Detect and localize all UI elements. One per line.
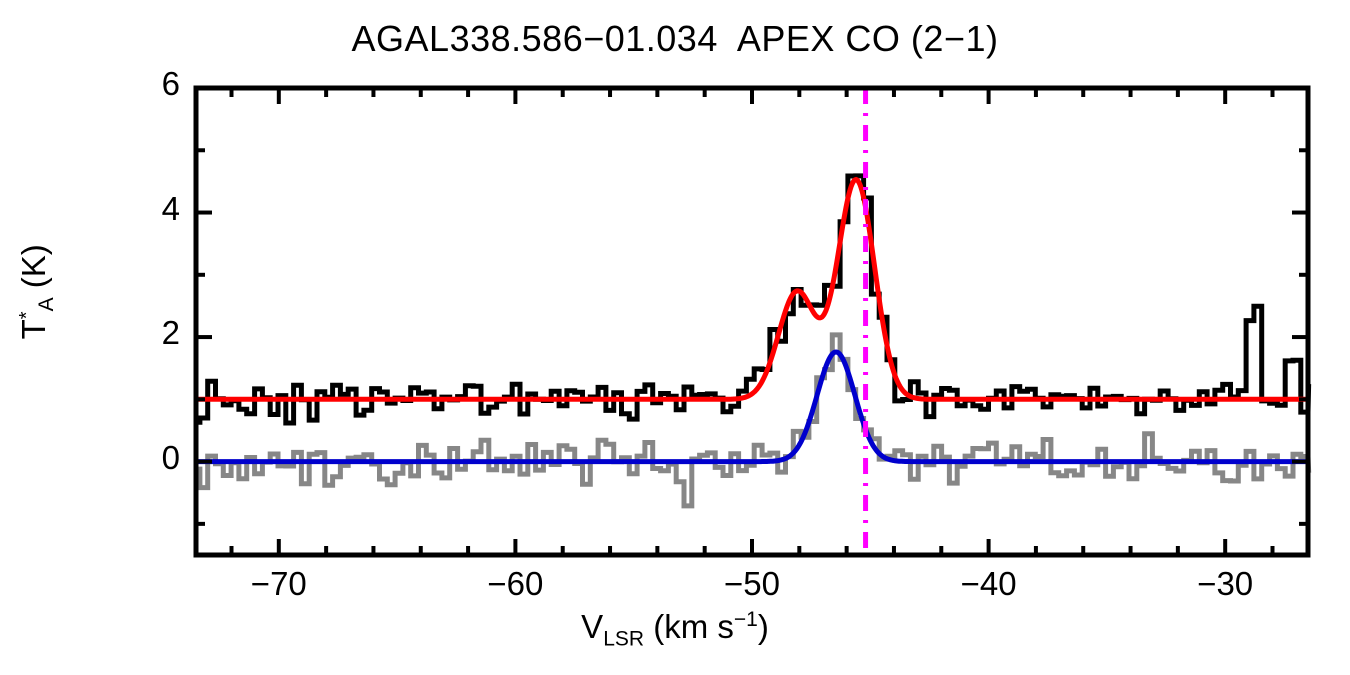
x-axis-tick-label: −40 bbox=[929, 565, 1049, 603]
x-axis-label: VLSR (km s−1) bbox=[0, 608, 1350, 652]
y-axis-tick-label: 0 bbox=[120, 439, 180, 477]
spectrum-plot bbox=[0, 0, 1350, 675]
y-axis-tick-label: 2 bbox=[120, 314, 180, 352]
page-title: AGAL338.586−01.034 APEX CO (2−1) bbox=[0, 18, 1350, 60]
spectrum-trace bbox=[196, 176, 1309, 423]
chart-container: AGAL338.586−01.034 APEX CO (2−1) T*A (K)… bbox=[0, 0, 1350, 675]
x-axis-tick-label: −70 bbox=[219, 565, 339, 603]
x-axis-tick-label: −30 bbox=[1165, 565, 1285, 603]
y-axis-label: T*A (K) bbox=[15, 192, 59, 392]
x-axis-tick-label: −50 bbox=[692, 565, 812, 603]
plot-frame bbox=[196, 88, 1308, 555]
y-axis-tick-label: 6 bbox=[120, 65, 180, 103]
gaussian-fit-curve bbox=[196, 180, 1308, 400]
secondary-spectrum-trace bbox=[196, 335, 1309, 506]
x-axis-tick-label: −60 bbox=[455, 565, 575, 603]
y-axis-tick-label: 4 bbox=[120, 190, 180, 228]
